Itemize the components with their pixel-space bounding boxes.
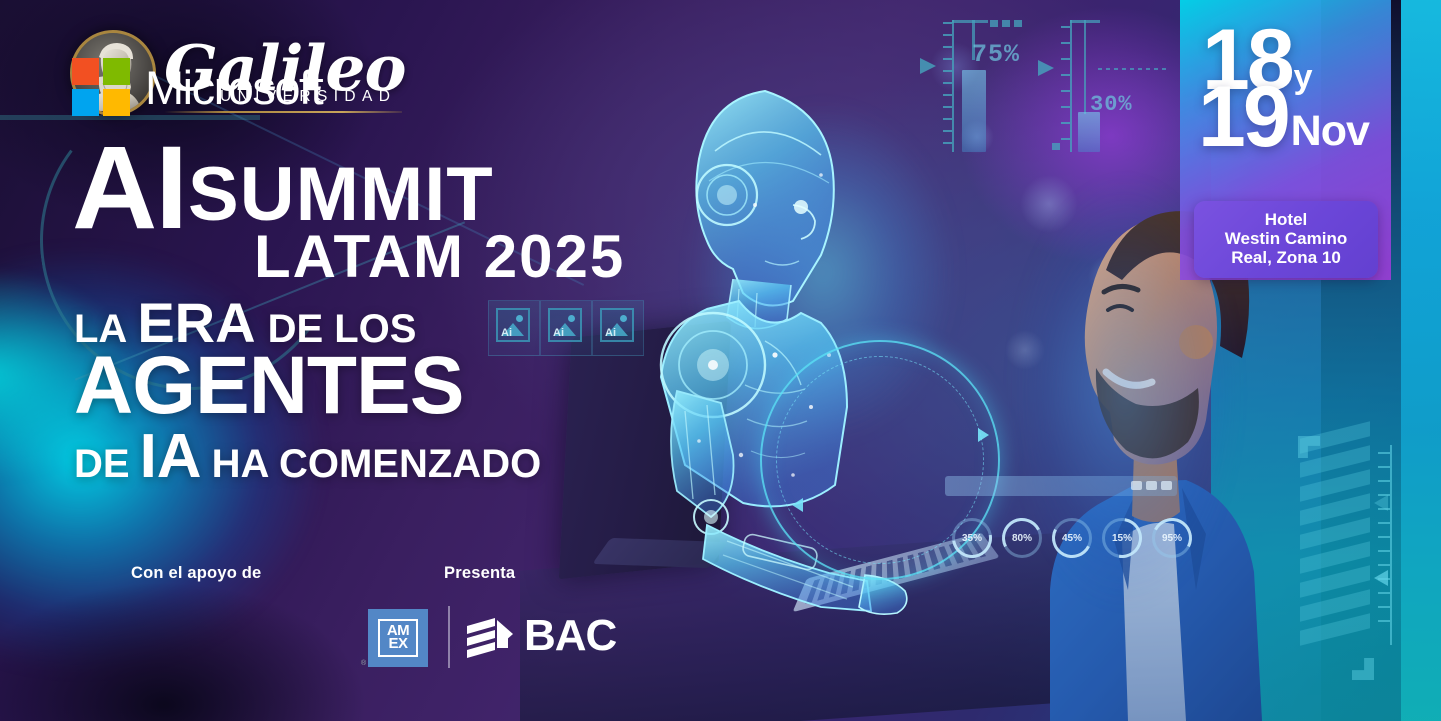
hud-ruler-tick <box>1378 480 1390 482</box>
tagline-line-3: DE IA HA COMENZADO <box>74 427 541 488</box>
bac-wordmark: BAC <box>524 614 616 658</box>
percent-ring-1: 35% <box>952 518 992 558</box>
event-title-latam-2025: LATAM 2025 <box>254 227 625 287</box>
hud-ruler-tick <box>1378 606 1390 608</box>
percent-ring-3: 45% <box>1052 518 1092 558</box>
date-day-2: 19 <box>1198 83 1288 152</box>
tagline-ha-comenzado: HA COMENZADO <box>212 445 542 484</box>
hud-gauge-30-value: 30% <box>1090 92 1133 117</box>
background-cyan-edge-strip <box>1401 0 1441 721</box>
percent-ring-2: 80% <box>1002 518 1042 558</box>
microsoft-logo: Microsoft <box>72 58 322 116</box>
ai-image-icon-3: Ai <box>600 308 634 342</box>
hud-ruler-pointer-hollow <box>1374 495 1388 511</box>
tagline-line-2: AGENTES <box>74 347 541 425</box>
venue-line-3: Real, Zona 10 <box>1200 248 1372 267</box>
date-numbers: 18 y 19 Nov <box>1180 0 1391 152</box>
sun-icon <box>568 315 575 322</box>
hud-ruler-tick <box>1378 564 1390 566</box>
amex-registered-mark: ® <box>361 660 366 667</box>
hud-ruler-tick <box>1378 522 1390 524</box>
hud-ruler-tick <box>1378 466 1390 468</box>
bac-mark-icon <box>465 614 515 658</box>
amex-box-icon: AM EX <box>378 619 418 657</box>
handshake-hud-arrow-left <box>792 498 803 512</box>
hud-ruler-tick <box>1378 592 1390 594</box>
tagline-ia: IA <box>140 427 202 488</box>
event-title-ai: AI <box>72 140 186 237</box>
hud-ruler-tick <box>1378 536 1390 538</box>
ai-summit-banner: 75% 30% Ai Ai Ai <box>0 0 1441 721</box>
date-month: Nov <box>1291 114 1369 148</box>
microsoft-wordmark: Microsoft <box>145 60 322 115</box>
sponsors-presents-label: Presenta <box>444 564 515 583</box>
event-title: AI SUMMIT LATAM 2025 <box>72 140 625 287</box>
date-badge: 18 y 19 Nov Hotel Westin Camino Real, Zo… <box>1180 0 1391 280</box>
date-conjunction: y <box>1294 64 1313 91</box>
bac-logo: BAC <box>465 614 616 658</box>
microsoft-square-red <box>72 58 99 85</box>
ai-icon-label-2: Ai <box>553 327 564 339</box>
hud-ruler-pointer <box>1374 570 1388 586</box>
handshake-hud-arrow-right <box>978 428 989 442</box>
hud-ruler-tick <box>1378 620 1390 622</box>
hud-ruler-right <box>1390 445 1392 645</box>
hud-stripe-stack <box>1300 430 1370 660</box>
hud-ruler-tick <box>1378 452 1390 454</box>
hud-percent-panel: 35% 80% 45% 15% 95% <box>940 476 1180 566</box>
hud-panel-dots <box>1131 481 1172 490</box>
percent-ring-5: 95% <box>1152 518 1192 558</box>
venue-badge: Hotel Westin Camino Real, Zona 10 <box>1194 201 1378 278</box>
microsoft-grid-icon <box>72 58 130 116</box>
amex-logo: AM EX <box>368 609 428 667</box>
sponsors-support-label: Con el apoyo de <box>131 564 261 583</box>
hud-ruler-tick <box>1378 550 1390 552</box>
percent-ring-4: 15% <box>1102 518 1142 558</box>
amex-line-2: EX <box>388 638 407 651</box>
event-title-summit: SUMMIT <box>188 162 494 229</box>
microsoft-square-blue <box>72 89 99 116</box>
ai-icon-label-3: Ai <box>605 327 616 339</box>
microsoft-square-green <box>103 58 130 85</box>
venue-line-1: Hotel <box>1200 210 1372 229</box>
tagline-agentes: AGENTES <box>74 340 463 431</box>
hud-gauge-75-value: 75% <box>972 40 1020 69</box>
date-row-19: 19 Nov <box>1180 83 1391 152</box>
microsoft-square-yellow <box>103 89 130 116</box>
ai-image-icon-2: Ai <box>548 308 582 342</box>
venue-line-2: Westin Camino <box>1200 229 1372 248</box>
sponsor-divider <box>448 606 450 668</box>
sun-icon <box>620 315 627 322</box>
tagline-de: DE <box>74 445 130 484</box>
event-tagline: LA ERA DE LOS AGENTES DE IA HA COMENZADO <box>74 296 541 488</box>
